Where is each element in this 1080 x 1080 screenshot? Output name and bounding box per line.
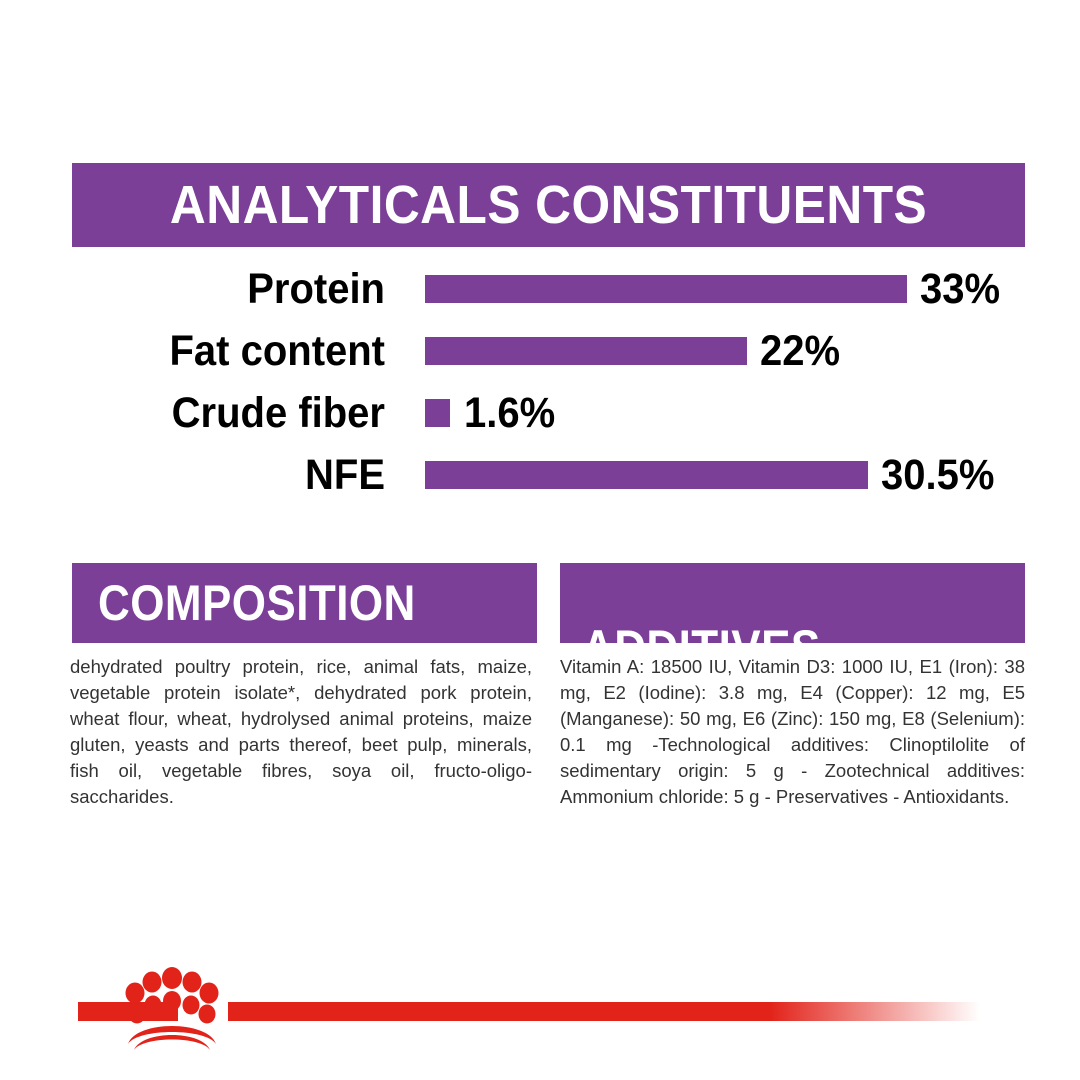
additives-title: ADDITIVES bbox=[582, 619, 821, 643]
analyticals-title: ANALYTICALS CONSTITUENTS bbox=[170, 174, 927, 236]
additives-unit-suffix: (per kg) bbox=[863, 641, 952, 643]
bar-value-label: 22% bbox=[760, 327, 840, 376]
bar-category-label: Crude fiber bbox=[27, 389, 385, 438]
analyticals-header-band: ANALYTICALS CONSTITUENTS bbox=[72, 163, 1025, 247]
nutrition-panel: ANALYTICALS CONSTITUENTS Protein 33% Fat… bbox=[0, 0, 1080, 1080]
chart-row: NFE 30.5% bbox=[0, 452, 1080, 498]
bar-category-label: Fat content bbox=[27, 327, 385, 376]
chart-row: Protein 33% bbox=[0, 266, 1080, 312]
chart-row: Crude fiber 1.6% bbox=[0, 390, 1080, 436]
bar-value-label: 33% bbox=[920, 265, 1000, 314]
bar-crude-fiber bbox=[425, 399, 450, 427]
bar-value-label: 30.5% bbox=[881, 451, 994, 500]
bar-category-label: NFE bbox=[27, 451, 385, 500]
bar-nfe bbox=[425, 461, 868, 489]
composition-title: COMPOSITION bbox=[98, 574, 416, 632]
royal-canin-crown-logo bbox=[118, 962, 226, 1050]
composition-text: dehydrated poultry protein, rice, animal… bbox=[70, 654, 532, 810]
bar-protein bbox=[425, 275, 907, 303]
chart-row: Fat content 22% bbox=[0, 328, 1080, 374]
composition-header-band: COMPOSITION bbox=[72, 563, 537, 643]
footer-rule-right bbox=[228, 1002, 980, 1021]
bar-value-label: 1.6% bbox=[464, 389, 555, 438]
additives-text: Vitamin A: 18500 IU, Vitamin D3: 1000 IU… bbox=[560, 654, 1025, 810]
bar-category-label: Protein bbox=[27, 265, 385, 314]
analyticals-bar-chart: Protein 33% Fat content 22% Crude fiber … bbox=[0, 266, 1080, 516]
additives-header-band: ADDITIVES (per kg) bbox=[560, 563, 1025, 643]
bar-fat-content bbox=[425, 337, 747, 365]
